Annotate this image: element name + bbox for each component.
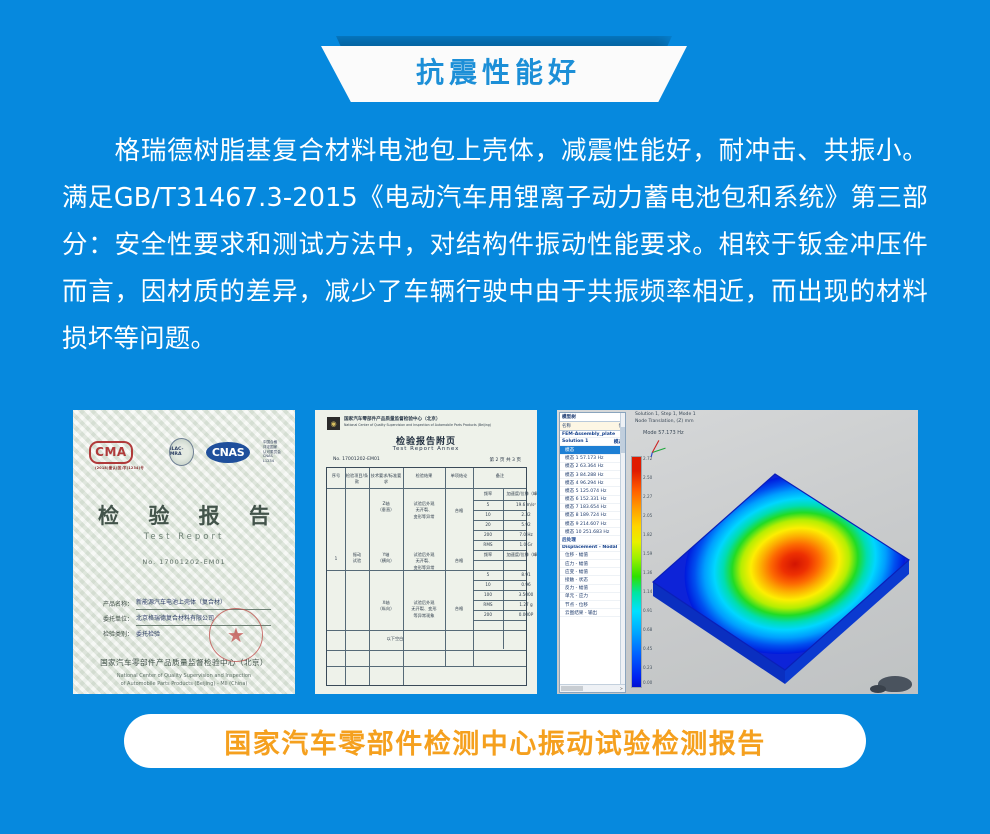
table-note-value: 1.0 Gr [503, 542, 537, 548]
table-header-en: National Center of Quality Supervision a… [344, 423, 491, 427]
table-note-key: 100 [473, 592, 503, 598]
fea-tree-item-label: 模态 9 214.607 Hz [565, 521, 606, 527]
fea-tree-item-label: 模态 1 57.173 Hz [565, 455, 603, 461]
table-column-header: 序号 [327, 473, 345, 479]
table-note-value: 3.5000 [503, 592, 537, 598]
fea-tree-item[interactable]: 接触 - 状态 [560, 576, 625, 584]
cma-logo: CMA (2018)量认(国)字(1234)号 [89, 441, 133, 464]
cma-logo-label: CMA [95, 445, 127, 459]
cursor-shadow-artifact [878, 676, 912, 692]
fea-tree-column-headers: 名称 值 [560, 421, 625, 431]
fea-tree-post-sublabel: Displacement - Nodal [562, 545, 617, 550]
paragraph-text: 格瑞德树脂基复合材料电池包上壳体，减震性能好，耐冲击、共振小。满足GB/T314… [62, 136, 928, 354]
fea-tree-item-label: 应力 - 幅值 [565, 561, 588, 567]
fea-simulation-image: 模型树 名称 值 FEM-Assembly_plate Solution 1 模… [557, 410, 918, 694]
table-column-header: 检验项目/条款 [345, 473, 369, 486]
fea-result-header-text: Solution 1, Step 1, Mode 1 Node Translat… [635, 412, 696, 426]
fea-tree-item-label: 云图结果 - 输出 [565, 610, 597, 616]
fea-tree-item[interactable]: 模态 9 214.607 Hz [560, 520, 625, 528]
cnas-logo-label: CNAS [212, 446, 245, 459]
table-column-header: 备注 [473, 473, 527, 479]
fea-tree-item-label: 应变 - 幅值 [565, 569, 588, 575]
table-note-key: RMS [473, 542, 503, 548]
body-paragraph: 格瑞德树脂基复合材料电池包上壳体，减震性能好，耐冲击、共振小。满足GB/T314… [62, 128, 928, 363]
table-grid: 序号 检验项目/条款 技术要求/标准要求 检验结果 单项结论 备注 1 振动 试… [326, 467, 527, 686]
table-cell-verdict: 合格 [445, 606, 473, 612]
table-column-header: 单项结论 [445, 473, 473, 479]
table-cell-result: 试验后外观 无开裂、 变形等异常 [403, 552, 445, 571]
table-note-value: 7.0 Hz [503, 532, 537, 538]
fea-tree-item[interactable]: 模态 2 63.364 Hz [560, 463, 625, 471]
table-cell-clause: Y轴 （横向） [369, 552, 403, 565]
table-title-en: Test Report Annex [315, 446, 537, 452]
table-cell-no: 1 [327, 556, 345, 562]
fea-tree-item-label: 单元 - 应力 [565, 593, 588, 599]
fea-tree-item[interactable]: 模态 4 96.294 Hz [560, 479, 625, 487]
fea-tree-subtitle[interactable]: FEM-Assembly_plate [560, 431, 625, 438]
page-title: 抗震性能好 [411, 59, 581, 89]
table-cell-verdict: 合格 [445, 508, 473, 514]
fea-tree-item[interactable]: 位移 - 幅值 [560, 552, 625, 560]
table-report-number: No. 17001202-EM01 [333, 457, 380, 462]
image-strip: CMA (2018)量认(国)字(1234)号 ILAC-MRA CNAS 中国… [73, 410, 918, 694]
fea-tree-post-group[interactable]: 后处理 [560, 536, 625, 544]
fea-tree-item-selected[interactable]: 模态 [560, 446, 625, 454]
table-note-key: 频率 [473, 491, 503, 497]
test-report-table-image: ◉ 国家汽车零部件产品质量监督检验中心（北京） National Center … [315, 410, 537, 694]
fea-tree-horizontal-scrollbar[interactable]: > [560, 684, 625, 692]
table-cell-verdict: 合格 [445, 558, 473, 564]
certificate-field-value: 新能源汽车电池上壳体（复合材） [136, 597, 271, 610]
fea-tree-item[interactable]: 模态 8 189.724 Hz [560, 512, 625, 520]
cma-logo-sublabel: (2018)量认(国)字(1234)号 [95, 465, 144, 470]
table-note-key: 20 [473, 522, 503, 528]
seal-star-glyph: ★ [227, 623, 245, 647]
table-note-key: RMS [473, 602, 503, 608]
table-footer-note: 以下空白 [345, 636, 445, 642]
fea-tree-item-label: 模态 7 183.654 Hz [565, 504, 606, 510]
fea-tree-item[interactable]: 云图结果 - 输出 [560, 609, 625, 617]
table-note-value: 1.27 g [503, 602, 537, 608]
certificate-organization-en: National Center of Quality Supervision a… [83, 673, 285, 688]
table-note-key: 10 [473, 582, 503, 588]
table-note-key: 频率 [473, 552, 503, 558]
fea-tree-item-label: 模态 6 152.331 Hz [565, 496, 606, 502]
fea-tree-hscroll-thumb[interactable] [561, 686, 583, 691]
table-column-header: 技术要求/标准要求 [369, 473, 403, 486]
fea-tree-title: 模型树 [560, 413, 625, 421]
certificate-field-value: 委托检验 [136, 629, 160, 641]
fea-tree-item[interactable]: 模态 7 183.654 Hz [560, 504, 625, 512]
fea-tree-item-label: 节点 - 位移 [565, 602, 588, 608]
fea-tree-item-label: 接触 - 状态 [565, 577, 588, 583]
table-note-key: 5 [473, 502, 503, 508]
fea-tree-post-subgroup[interactable]: Displacement - Nodal [560, 545, 625, 552]
certificate-title-cn: 检 验 报 告 [73, 500, 295, 530]
table-note-value: 5.92 [503, 522, 537, 528]
table-note-value: 0.96 [503, 582, 537, 588]
title-banner: 抗震性能好 [0, 22, 990, 100]
table-cell-clause: Z轴 （垂直） [369, 501, 403, 514]
fea-model-tree-panel[interactable]: 模型树 名称 值 FEM-Assembly_plate Solution 1 模… [559, 412, 626, 693]
table-column-header: 检验结果 [403, 473, 445, 479]
fea-tree-col-name: 名称 [562, 423, 619, 429]
table-cell-clause: X轴 （纵向） [369, 600, 403, 613]
fea-tree-item-label: 模态 5 125.074 Hz [565, 488, 606, 494]
fea-tree-item[interactable]: 模态 6 152.331 Hz [560, 496, 625, 504]
table-note-value: 加速度/位移（峰值） [503, 552, 537, 558]
certificate-image: CMA (2018)量认(国)字(1234)号 ILAC-MRA CNAS 中国… [73, 410, 295, 694]
ilac-mra-logo: ILAC-MRA [169, 438, 195, 466]
fea-tree-item-label: 模态 2 63.364 Hz [565, 463, 603, 469]
certificate-organization-cn: 国家汽车零部件产品质量监督检验中心（北京） [83, 657, 285, 668]
fea-tree-item[interactable]: 应力 - 幅值 [560, 560, 625, 568]
table-cell-item: 振动 试验 [345, 552, 369, 565]
chevron-right-icon[interactable]: > [620, 686, 623, 691]
fea-tree-item-label: 模态 8 189.724 Hz [565, 512, 606, 518]
certificate-report-number: No. 17001202-EM01 [73, 558, 295, 566]
fea-tree-item[interactable]: 单元 - 应力 [560, 593, 625, 601]
bottom-caption-pill: 国家汽车零部件检测中心振动试验检测报告 [124, 714, 866, 768]
certificate-field-label: 委托单位： [103, 614, 133, 625]
fea-tree-item[interactable]: 模态 10 251.683 Hz [560, 528, 625, 536]
fea-tree-solution-label: Solution 1 [562, 439, 588, 445]
table-note-key: 200 [473, 612, 503, 618]
table-note-key: 200 [473, 532, 503, 538]
fea-tree-item[interactable]: 模态 5 125.074 Hz [560, 487, 625, 495]
table-page-number: 第 2 页 共 3 页 [489, 457, 521, 463]
banner-shape: 抗震性能好 [305, 46, 687, 102]
fea-tree-item-label: 模态 4 96.294 Hz [565, 480, 603, 486]
fea-tree-item[interactable]: 反力 - 幅值 [560, 585, 625, 593]
fea-tree-item-label: 模态 10 251.683 Hz [565, 529, 609, 535]
fea-tree-solution-group[interactable]: Solution 1 模态 [560, 438, 625, 446]
fea-tree-vertical-scrollbar[interactable] [620, 413, 625, 684]
table-cell-result: 试验后外观 无开裂、变形 等异常现象 [403, 600, 445, 619]
cnas-logo: CNAS [206, 442, 249, 463]
official-seal-stamp-icon: ★ [209, 608, 263, 662]
certificate-logo-row: CMA (2018)量认(国)字(1234)号 ILAC-MRA CNAS 中国… [89, 438, 283, 466]
table-note-value: 0.000P [503, 612, 537, 618]
certificate-title-en: Test Report [73, 532, 295, 542]
table-note-value: 2.32 [503, 512, 537, 518]
certificate-field: 产品名称： 新能源汽车电池上壳体（复合材） [103, 597, 271, 610]
fea-tree-item-label: 模态 [565, 447, 574, 453]
certificate-field-label: 检验类别： [103, 629, 133, 640]
fea-tree-item[interactable]: 模态 3 84.288 Hz [560, 471, 625, 479]
color-legend-bar [631, 456, 642, 688]
cnas-logo-sidetext: 中国合格 评定国家 认可委员会 CNAS L1234 [263, 440, 283, 464]
fea-tree-item-label: 反力 - 幅值 [565, 585, 588, 591]
fea-tree-item[interactable]: 应变 - 幅值 [560, 568, 625, 576]
fea-tree-item[interactable]: 模态 1 57.173 Hz [560, 455, 625, 463]
modal-shape-contour-plot [645, 432, 917, 690]
table-cell-result: 试验后外观 无开裂、 变形等异常 [403, 501, 445, 520]
table-header-cn: 国家汽车零部件产品质量监督检验中心（北京） [344, 416, 440, 422]
table-note-key: 10 [473, 512, 503, 518]
certificate-field-label: 产品名称： [103, 599, 133, 610]
fea-tree-post-label: 后处理 [562, 537, 576, 543]
institute-emblem-icon: ◉ [327, 417, 340, 430]
table-note-value: 19.6 m/s² [503, 502, 537, 508]
fea-tree-item-label: 模态 3 84.288 Hz [565, 472, 603, 478]
table-note-key: 5 [473, 572, 503, 578]
fea-tree-subtitle-label: FEM-Assembly_plate [562, 432, 615, 437]
bottom-caption-label: 国家汽车零部件检测中心振动试验检测报告 [224, 722, 766, 761]
table-note-value: 加速度/位移（峰值） [503, 491, 537, 497]
table-note-value: 8.91 [503, 572, 537, 578]
fea-tree-item-label: 位移 - 幅值 [565, 552, 588, 558]
ilac-mra-logo-label: ILAC-MRA [170, 447, 194, 457]
fea-tree-item[interactable]: 节点 - 位移 [560, 601, 625, 609]
fea-tree-scroll-thumb[interactable] [621, 427, 625, 453]
